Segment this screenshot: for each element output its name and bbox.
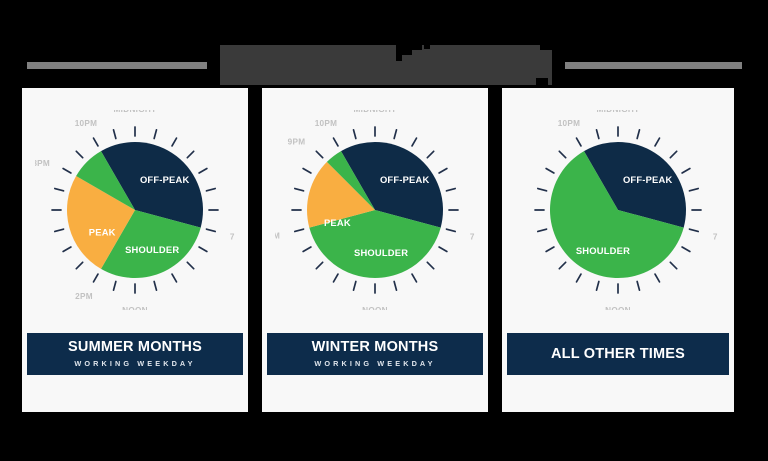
header-rule-left bbox=[27, 62, 207, 69]
pie-slice-label: PEAK bbox=[324, 217, 351, 228]
card-footer-title: SUMMER MONTHS bbox=[68, 339, 202, 356]
card-footer-subtitle: WORKING WEEKDAY bbox=[314, 358, 435, 369]
redaction-notch bbox=[536, 78, 548, 85]
redaction-notch bbox=[540, 45, 552, 50]
pie-slice-label: SHOULDER bbox=[125, 244, 179, 255]
page-title bbox=[220, 45, 552, 85]
hour-label: MIDNIGHT bbox=[114, 110, 157, 114]
card-footer-title: ALL OTHER TIMES bbox=[551, 346, 685, 363]
tariff-card: OFF-PEAKSHOULDERPEAKMIDNIGHT7AMNOON5PM9P… bbox=[262, 88, 488, 412]
page-root: OFF-PEAKSHOULDERPEAKMIDNIGHT7AMNOON2PM8P… bbox=[0, 0, 768, 461]
pie-slice-label: SHOULDER bbox=[354, 247, 408, 258]
redaction-notch bbox=[412, 45, 422, 50]
clock-chart-area: OFF-PEAKSHOULDERPEAKMIDNIGHT7AMNOON5PM9P… bbox=[262, 88, 488, 332]
time-of-use-clock-chart: OFF-PEAKSHOULDERMIDNIGHT7AMNOON10PM bbox=[518, 110, 718, 310]
clock-chart-area: OFF-PEAKSHOULDERMIDNIGHT7AMNOON10PM bbox=[502, 88, 734, 332]
pie-slice-label: OFF-PEAK bbox=[140, 174, 190, 185]
hour-label: 7AM bbox=[470, 232, 475, 241]
card-footer-subtitle: WORKING WEEKDAY bbox=[74, 358, 195, 369]
hour-label: NOON bbox=[122, 306, 148, 310]
redaction-notch bbox=[424, 45, 430, 49]
pie-slice-label: OFF-PEAK bbox=[623, 174, 673, 185]
header-rule-right bbox=[565, 62, 742, 69]
header bbox=[0, 44, 768, 86]
time-of-use-clock-chart: OFF-PEAKSHOULDERPEAKMIDNIGHT7AMNOON2PM8P… bbox=[35, 110, 235, 310]
hour-label: NOON bbox=[605, 306, 631, 310]
hour-label: NOON bbox=[362, 306, 388, 310]
clock-chart-area: OFF-PEAKSHOULDERPEAKMIDNIGHT7AMNOON2PM8P… bbox=[22, 88, 248, 332]
hour-label: 10PM bbox=[315, 119, 338, 128]
tariff-card: OFF-PEAKSHOULDERPEAKMIDNIGHT7AMNOON2PM8P… bbox=[22, 88, 248, 412]
redaction-notch bbox=[396, 45, 412, 55]
hour-label: 5PM bbox=[275, 231, 280, 240]
pie-slice-label: SHOULDER bbox=[576, 245, 630, 256]
hour-label: 2PM bbox=[75, 292, 93, 301]
hour-label: MIDNIGHT bbox=[597, 110, 640, 114]
redaction-notch bbox=[396, 55, 402, 61]
hour-label: 8PM bbox=[35, 159, 50, 168]
hour-label: 9PM bbox=[288, 138, 306, 147]
card-footer: ALL OTHER TIMES bbox=[507, 333, 729, 375]
card-footer: WINTER MONTHS WORKING WEEKDAY bbox=[267, 333, 483, 375]
card-footer: SUMMER MONTHS WORKING WEEKDAY bbox=[27, 333, 243, 375]
hour-label: 10PM bbox=[75, 119, 98, 128]
pie-slice-label: OFF-PEAK bbox=[380, 174, 430, 185]
hour-label: 7AM bbox=[713, 232, 718, 241]
time-of-use-clock-chart: OFF-PEAKSHOULDERPEAKMIDNIGHT7AMNOON5PM9P… bbox=[275, 110, 475, 310]
card-footer-title: WINTER MONTHS bbox=[312, 339, 439, 356]
hour-label: MIDNIGHT bbox=[354, 110, 397, 114]
page-title-redacted bbox=[220, 45, 552, 85]
tariff-card: OFF-PEAKSHOULDERMIDNIGHT7AMNOON10PM ALL … bbox=[502, 88, 734, 412]
pie-slice-label: PEAK bbox=[89, 226, 116, 237]
hour-label: 7AM bbox=[230, 232, 235, 241]
hour-label: 10PM bbox=[558, 119, 581, 128]
